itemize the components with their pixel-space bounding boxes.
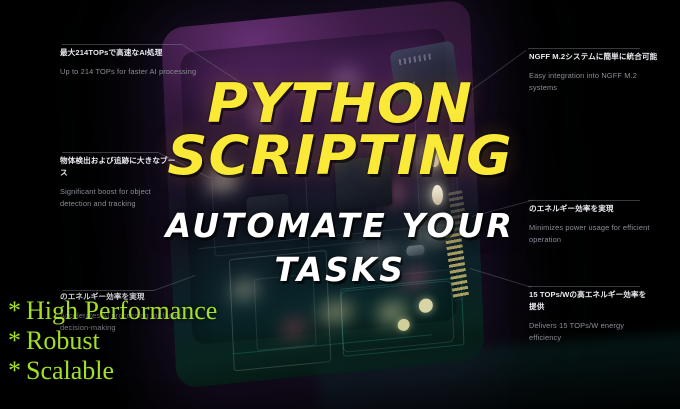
bullet-label: Scalable xyxy=(26,356,114,385)
callout-text-en: Significant boost for object detection a… xyxy=(60,186,180,210)
board-glow xyxy=(331,66,362,91)
board-chip xyxy=(406,245,424,257)
callout-connector-line xyxy=(528,200,640,201)
board-chip xyxy=(246,193,289,235)
bullet-label: Robust xyxy=(26,326,100,355)
callout-text-en: Easy integration into NGFF M.2 systems xyxy=(529,70,659,94)
callout-title-jp: 物体検出および追跡に大きなブース xyxy=(60,155,180,179)
callout-text-en: Delivers 15 TOPs/W energy efficiency xyxy=(529,320,651,344)
callout-connector-line xyxy=(62,44,182,45)
bullet-marker: * xyxy=(8,356,26,386)
callout-connector-line xyxy=(528,286,640,287)
list-item: *Scalable xyxy=(8,356,217,386)
callout-title-jp: のエネルギー効率を実現 xyxy=(529,203,659,215)
feature-bullet-list: *High Performance *Robust *Scalable xyxy=(8,296,217,386)
callout-connector-line xyxy=(62,152,158,153)
board-chip xyxy=(335,155,393,210)
callout-title-jp: 最大214TOPsで高速なAI処理 xyxy=(60,47,210,59)
promo-graphic: AI 最大214TOPsで高速なAI処理 Up to 214 TOPs for … xyxy=(0,0,680,409)
callout-text-en: Up to 214 TOPs for faster AI processing xyxy=(60,66,210,78)
chip-pins xyxy=(399,53,433,65)
callout-right-1: NGFF M.2システムに簡単に統合可能 Easy integration in… xyxy=(529,51,659,94)
callout-left-2: 物体検出および追跡に大きなブース Significant boost for o… xyxy=(60,155,180,210)
callout-connector-line xyxy=(528,48,640,49)
circuit-board-illustration: AI xyxy=(168,14,498,394)
board-trace xyxy=(254,273,317,351)
bullet-label: High Performance xyxy=(26,296,217,325)
bullet-marker: * xyxy=(8,326,26,356)
callout-title-jp: NGFF M.2システムに簡単に統合可能 xyxy=(529,51,659,63)
callout-text-en: Minimizes power usage for efficient oper… xyxy=(529,222,659,246)
bullet-marker: * xyxy=(8,296,26,326)
callout-right-2: のエネルギー効率を実現 Minimizes power usage for ef… xyxy=(529,203,659,246)
ai-chip: AI xyxy=(390,40,460,105)
board-notch xyxy=(340,280,454,353)
board-glow xyxy=(248,104,275,127)
chip-label: AI xyxy=(401,78,418,96)
callout-title-jp: 15 TOPs/Wの高エネルギー効率を提供 xyxy=(529,289,651,313)
list-item: *High Performance xyxy=(8,296,217,326)
callout-right-3: 15 TOPs/Wの高エネルギー効率を提供 Delivers 15 TOPs/W… xyxy=(529,289,651,344)
callout-left-1: 最大214TOPsで高速なAI処理 Up to 214 TOPs for fas… xyxy=(60,47,210,78)
list-item: *Robust xyxy=(8,326,217,356)
